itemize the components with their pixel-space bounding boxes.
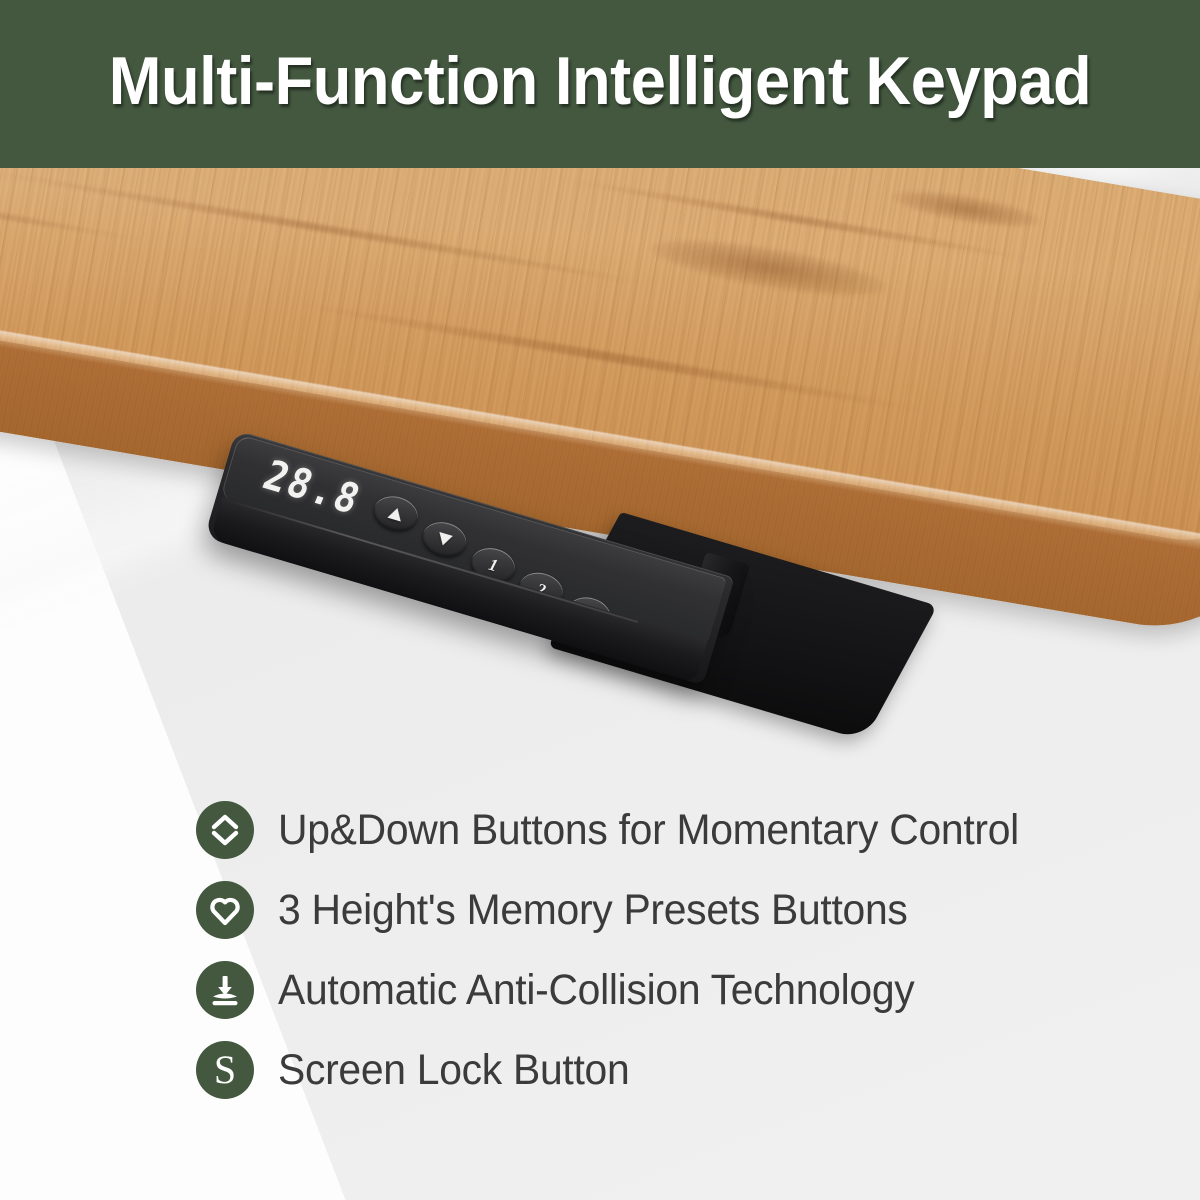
feature-label: Screen Lock Button — [278, 1046, 629, 1095]
screen-lock-s-icon: S — [196, 1041, 254, 1099]
heart-icon — [196, 881, 254, 939]
wood-grain-streak — [0, 166, 665, 290]
feature-list: Up&Down Buttons for Momentary Control 3 … — [196, 790, 1156, 1110]
keypad-body: 28.8 1 2 3 S — [204, 430, 734, 685]
triangle-down-icon — [436, 531, 453, 546]
up-down-chevron-icon — [196, 801, 254, 859]
wood-knot — [647, 228, 890, 307]
keypad-down-button[interactable] — [419, 517, 471, 561]
keypad-up-button[interactable] — [370, 491, 422, 535]
wood-knot — [890, 184, 1042, 235]
feature-item-memory-presets: 3 Height's Memory Presets Buttons — [196, 870, 1156, 950]
feature-label: Up&Down Buttons for Momentary Control — [278, 806, 1019, 855]
header-banner: Multi-Function Intelligent Keypad — [0, 0, 1200, 168]
triangle-up-icon — [387, 506, 404, 521]
letter-s-glyph: S — [214, 1050, 236, 1090]
keypad-assembly: 28.8 1 2 3 S — [236, 424, 936, 694]
anti-collision-icon — [196, 961, 254, 1019]
feature-item-anti-collision: Automatic Anti-Collision Technology — [196, 950, 1156, 1030]
feature-label: Automatic Anti-Collision Technology — [278, 966, 914, 1015]
feature-label: 3 Height's Memory Presets Buttons — [278, 886, 908, 935]
page-title: Multi-Function Intelligent Keypad — [42, 42, 1158, 120]
feature-item-up-down: Up&Down Buttons for Momentary Control — [196, 790, 1156, 870]
product-feature-page: 28.8 1 2 3 S Multi-Funct — [0, 0, 1200, 1200]
feature-item-screen-lock: S Screen Lock Button — [196, 1030, 1156, 1110]
